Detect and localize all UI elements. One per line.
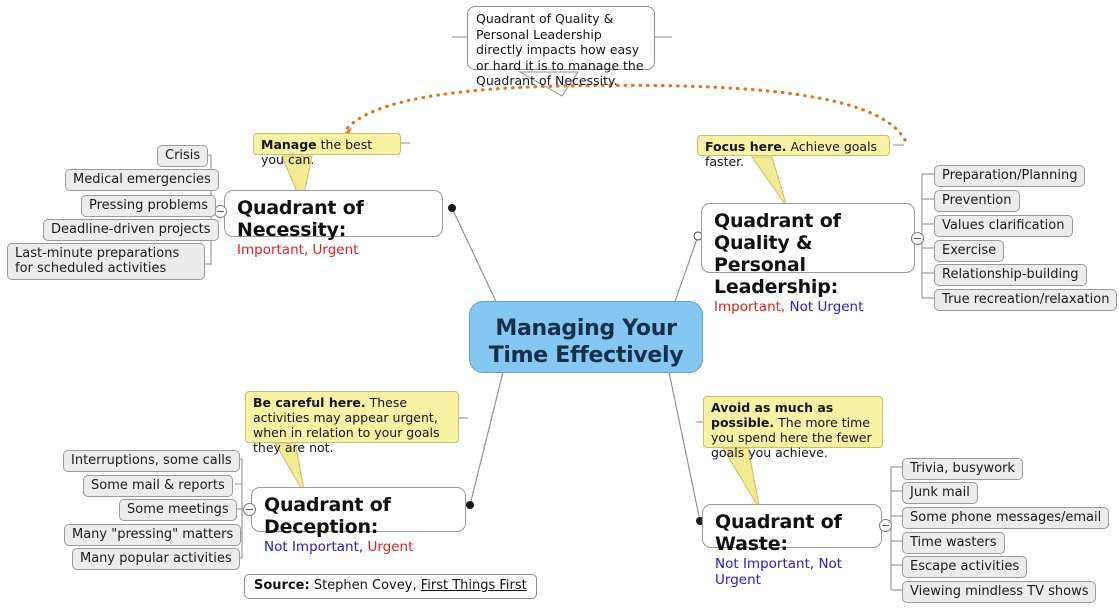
central-topic[interactable]: Managing Your Time Effectively: [469, 301, 703, 373]
leaf-necessity-3[interactable]: Deadline-driven projects: [43, 219, 219, 241]
source-note[interactable]: Source: Stephen Covey, First Things Firs…: [244, 574, 537, 599]
tag-important: Important,: [714, 299, 785, 315]
central-topic-line2: Time Effectively: [470, 342, 702, 369]
leaf-waste-3[interactable]: Time wasters: [902, 532, 1005, 554]
tag-urgent: Urgent: [363, 539, 413, 555]
leaf-quality-1[interactable]: Prevention: [934, 190, 1020, 212]
collapse-toggle-quality[interactable]: [911, 232, 924, 245]
source-author: Stephen Covey,: [310, 578, 417, 593]
leaf-quality-3[interactable]: Exercise: [934, 240, 1004, 262]
quadrant-quality-tags: Important, Not Urgent: [714, 299, 902, 315]
leaf-quality-5[interactable]: True recreation/relaxation: [934, 289, 1117, 311]
tag-not-important: Not Important,: [264, 539, 363, 555]
source-label: Source:: [254, 578, 310, 593]
leaf-necessity-2[interactable]: Pressing problems: [81, 195, 216, 217]
central-topic-line1: Managing Your: [470, 315, 702, 342]
source-book-title: First Things First: [421, 578, 527, 593]
callout-quality-bold: Focus here.: [705, 139, 787, 154]
leaf-deception-4[interactable]: Many popular activities: [72, 548, 240, 570]
leaf-waste-5[interactable]: Viewing mindless TV shows: [902, 581, 1096, 603]
leaf-necessity-0[interactable]: Crisis: [157, 145, 208, 167]
collapse-toggle-deception[interactable]: [243, 503, 256, 516]
leaf-waste-2[interactable]: Some phone messages/email: [902, 507, 1109, 529]
quadrant-quality-title-1: Quadrant of Quality &: [714, 210, 902, 254]
quadrant-waste[interactable]: Quadrant of Waste: Not Important, Not Ur…: [702, 504, 882, 548]
collapse-toggle-waste[interactable]: [879, 519, 892, 532]
leaf-necessity-4[interactable]: Last-minute preparations for scheduled a…: [7, 243, 205, 280]
quadrant-waste-title: Quadrant of Waste:: [715, 511, 869, 555]
tag-not-urgent: Not Urgent: [785, 299, 863, 315]
quadrant-waste-tags: Not Important, Not Urgent: [715, 556, 869, 588]
leaf-necessity-1[interactable]: Medical emergencies: [65, 169, 219, 191]
leaf-quality-0[interactable]: Preparation/Planning: [934, 165, 1085, 187]
quadrant-necessity[interactable]: Quadrant of Necessity: Important, Urgent: [224, 190, 443, 237]
leaf-quality-4[interactable]: Relationship-building: [934, 264, 1087, 286]
callout-necessity[interactable]: Manage the best you can.: [253, 133, 401, 155]
quadrant-quality-title-2: Personal Leadership:: [714, 254, 902, 298]
leaf-deception-2[interactable]: Some meetings: [119, 499, 237, 521]
leaf-quality-2[interactable]: Values clarification: [934, 215, 1073, 237]
relationship-note[interactable]: Quadrant of Quality & Personal Leadershi…: [467, 6, 655, 70]
callout-deception[interactable]: Be careful here. These activities may ap…: [245, 391, 459, 443]
quadrant-deception-title: Quadrant of Deception:: [264, 494, 453, 538]
leaf-waste-0[interactable]: Trivia, busywork: [902, 458, 1023, 480]
mindmap-canvas: Managing Your Time Effectively Quadrant …: [0, 0, 1119, 612]
quadrant-quality[interactable]: Quadrant of Quality & Personal Leadershi…: [701, 203, 915, 273]
tag-urgent: Urgent: [313, 242, 359, 258]
leaf-waste-4[interactable]: Escape activities: [902, 556, 1027, 578]
tag-not-important-not-urgent: Not Important, Not Urgent: [715, 556, 842, 588]
quadrant-deception[interactable]: Quadrant of Deception: Not Important, Ur…: [251, 487, 466, 532]
callout-deception-bold: Be careful here.: [253, 395, 366, 410]
leaf-deception-3[interactable]: Many "pressing" matters: [64, 524, 241, 546]
quadrant-deception-tags: Not Important, Urgent: [264, 539, 453, 555]
leaf-waste-1[interactable]: Junk mail: [902, 482, 978, 504]
callout-necessity-bold: Manage: [261, 137, 317, 152]
leaf-deception-1[interactable]: Some mail & reports: [83, 475, 233, 497]
callout-quality[interactable]: Focus here. Achieve goals faster.: [697, 135, 890, 156]
leaf-deception-0[interactable]: Interruptions, some calls: [63, 450, 240, 472]
quadrant-necessity-title: Quadrant of Necessity:: [237, 197, 430, 241]
quadrant-necessity-tags: Important, Urgent: [237, 242, 430, 258]
callout-waste[interactable]: Avoid as much as possible. The more time…: [703, 396, 883, 448]
tag-important: Important,: [237, 242, 308, 258]
